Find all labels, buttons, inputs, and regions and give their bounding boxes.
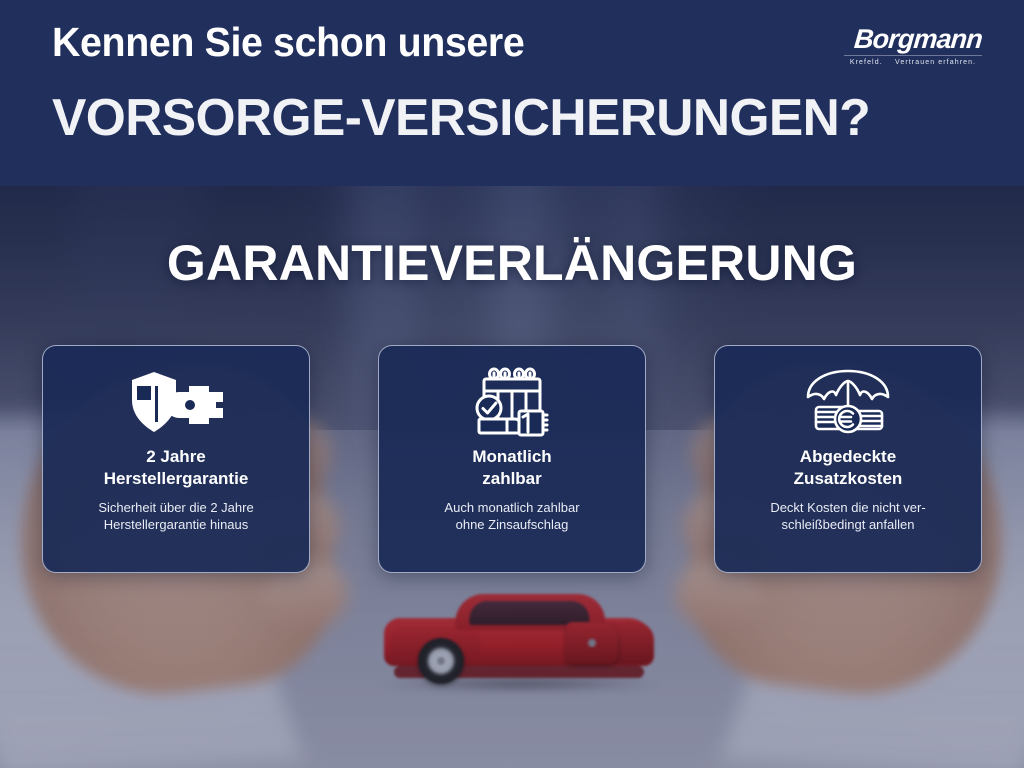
feature-card-row: 2 Jahre Herstellergarantie Sicherheit üb…: [42, 345, 982, 575]
card-title-line-2: Herstellergarantie: [104, 469, 249, 488]
card-description: Deckt Kosten die nicht ver- schleißbedin…: [770, 499, 925, 534]
borgmann-logo[interactable]: Borgmann Krefeld. Vertrauen erfahren.: [844, 26, 982, 66]
card-description: Sicherheit über die 2 Jahre Herstellerga…: [98, 499, 253, 534]
card-title: Abgedeckte Zusatzkosten: [794, 446, 903, 490]
card-title: Monatlich zahlbar: [472, 446, 551, 490]
card-description: Auch monatlich zahlbar ohne Zinsaufschla…: [444, 499, 579, 534]
logo-tagline: Krefeld. Vertrauen erfahren.: [844, 59, 982, 66]
logo-wordmark: Borgmann: [843, 26, 983, 53]
card-title-line-1: Abgedeckte: [800, 447, 896, 466]
headline-line-2: VORSORGE-VERSICHERUNGEN?: [52, 92, 870, 144]
card-desc-line-2: schleißbedingt anfallen: [782, 517, 915, 532]
card-title-line-2: zahlbar: [482, 469, 542, 488]
feature-card-zusatzkosten[interactable]: Abgedeckte Zusatzkosten Deckt Kosten die…: [714, 345, 982, 573]
feature-card-herstellergarantie[interactable]: 2 Jahre Herstellergarantie Sicherheit üb…: [42, 345, 310, 573]
card-desc-line-1: Sicherheit über die 2 Jahre: [98, 500, 253, 515]
page-title: GARANTIEVERLÄNGERUNG: [0, 238, 1024, 288]
logo-tagline-right: Vertrauen erfahren.: [895, 59, 976, 66]
card-title-line-2: Zusatzkosten: [794, 469, 903, 488]
poster-canvas: Kennen Sie schon unsere VORSORGE-VERSICH…: [0, 0, 1024, 768]
card-desc-line-2: Herstellergarantie hinaus: [104, 517, 249, 532]
headline-line-1: Kennen Sie schon unsere: [52, 22, 524, 63]
logo-divider: [844, 55, 982, 56]
feature-card-monatlich-zahlbar[interactable]: Monatlich zahlbar Auch monatlich zahlbar…: [378, 345, 646, 573]
card-title-line-1: 2 Jahre: [146, 447, 206, 466]
logo-tagline-left: Krefeld.: [850, 59, 883, 66]
card-title-line-1: Monatlich: [472, 447, 551, 466]
card-desc-line-1: Deckt Kosten die nicht ver-: [770, 500, 925, 515]
card-desc-line-1: Auch monatlich zahlbar: [444, 500, 579, 515]
calendar-check-cash-icon: [467, 366, 557, 440]
card-desc-line-2: ohne Zinsaufschlag: [456, 517, 569, 532]
shield-engine-icon: [124, 366, 228, 440]
header-banner: Kennen Sie schon unsere VORSORGE-VERSICH…: [0, 0, 1024, 186]
umbrella-euro-coins-icon: [800, 366, 896, 440]
card-title: 2 Jahre Herstellergarantie: [104, 446, 249, 490]
